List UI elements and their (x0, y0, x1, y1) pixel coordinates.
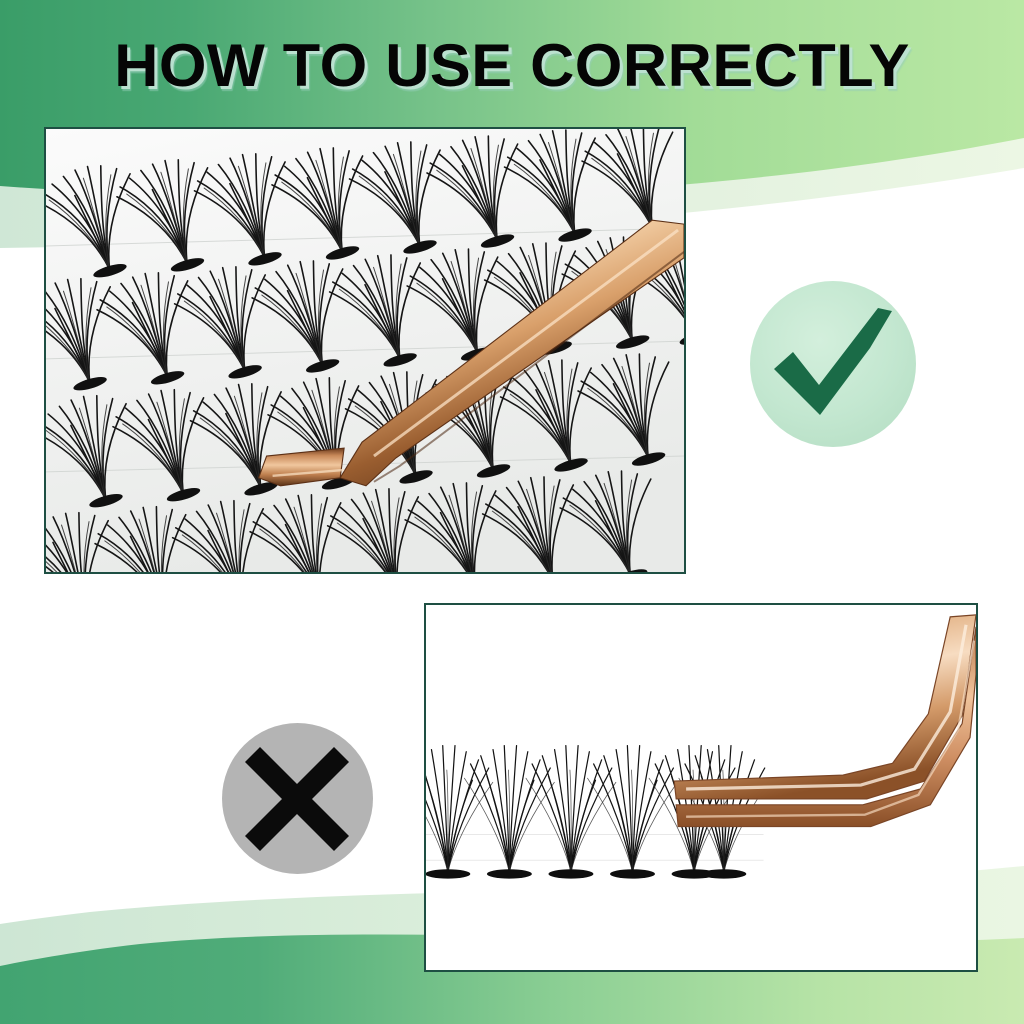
page-title-text: HOW TO USE CORRECTLY (114, 33, 910, 99)
lash-sideview-illustration (426, 605, 976, 970)
cross-mark-glyph (222, 723, 373, 874)
page-title: HOW TO USE CORRECTLY (0, 33, 1024, 99)
infographic-root: HOW TO USE CORRECTLY (0, 0, 1024, 1024)
incorrect-usage-photo (424, 603, 978, 972)
check-mark-glyph (750, 281, 916, 447)
correct-usage-photo (44, 127, 686, 574)
lash-tray-topview-illustration (46, 129, 684, 572)
check-icon (750, 281, 916, 447)
cross-icon (222, 723, 373, 874)
